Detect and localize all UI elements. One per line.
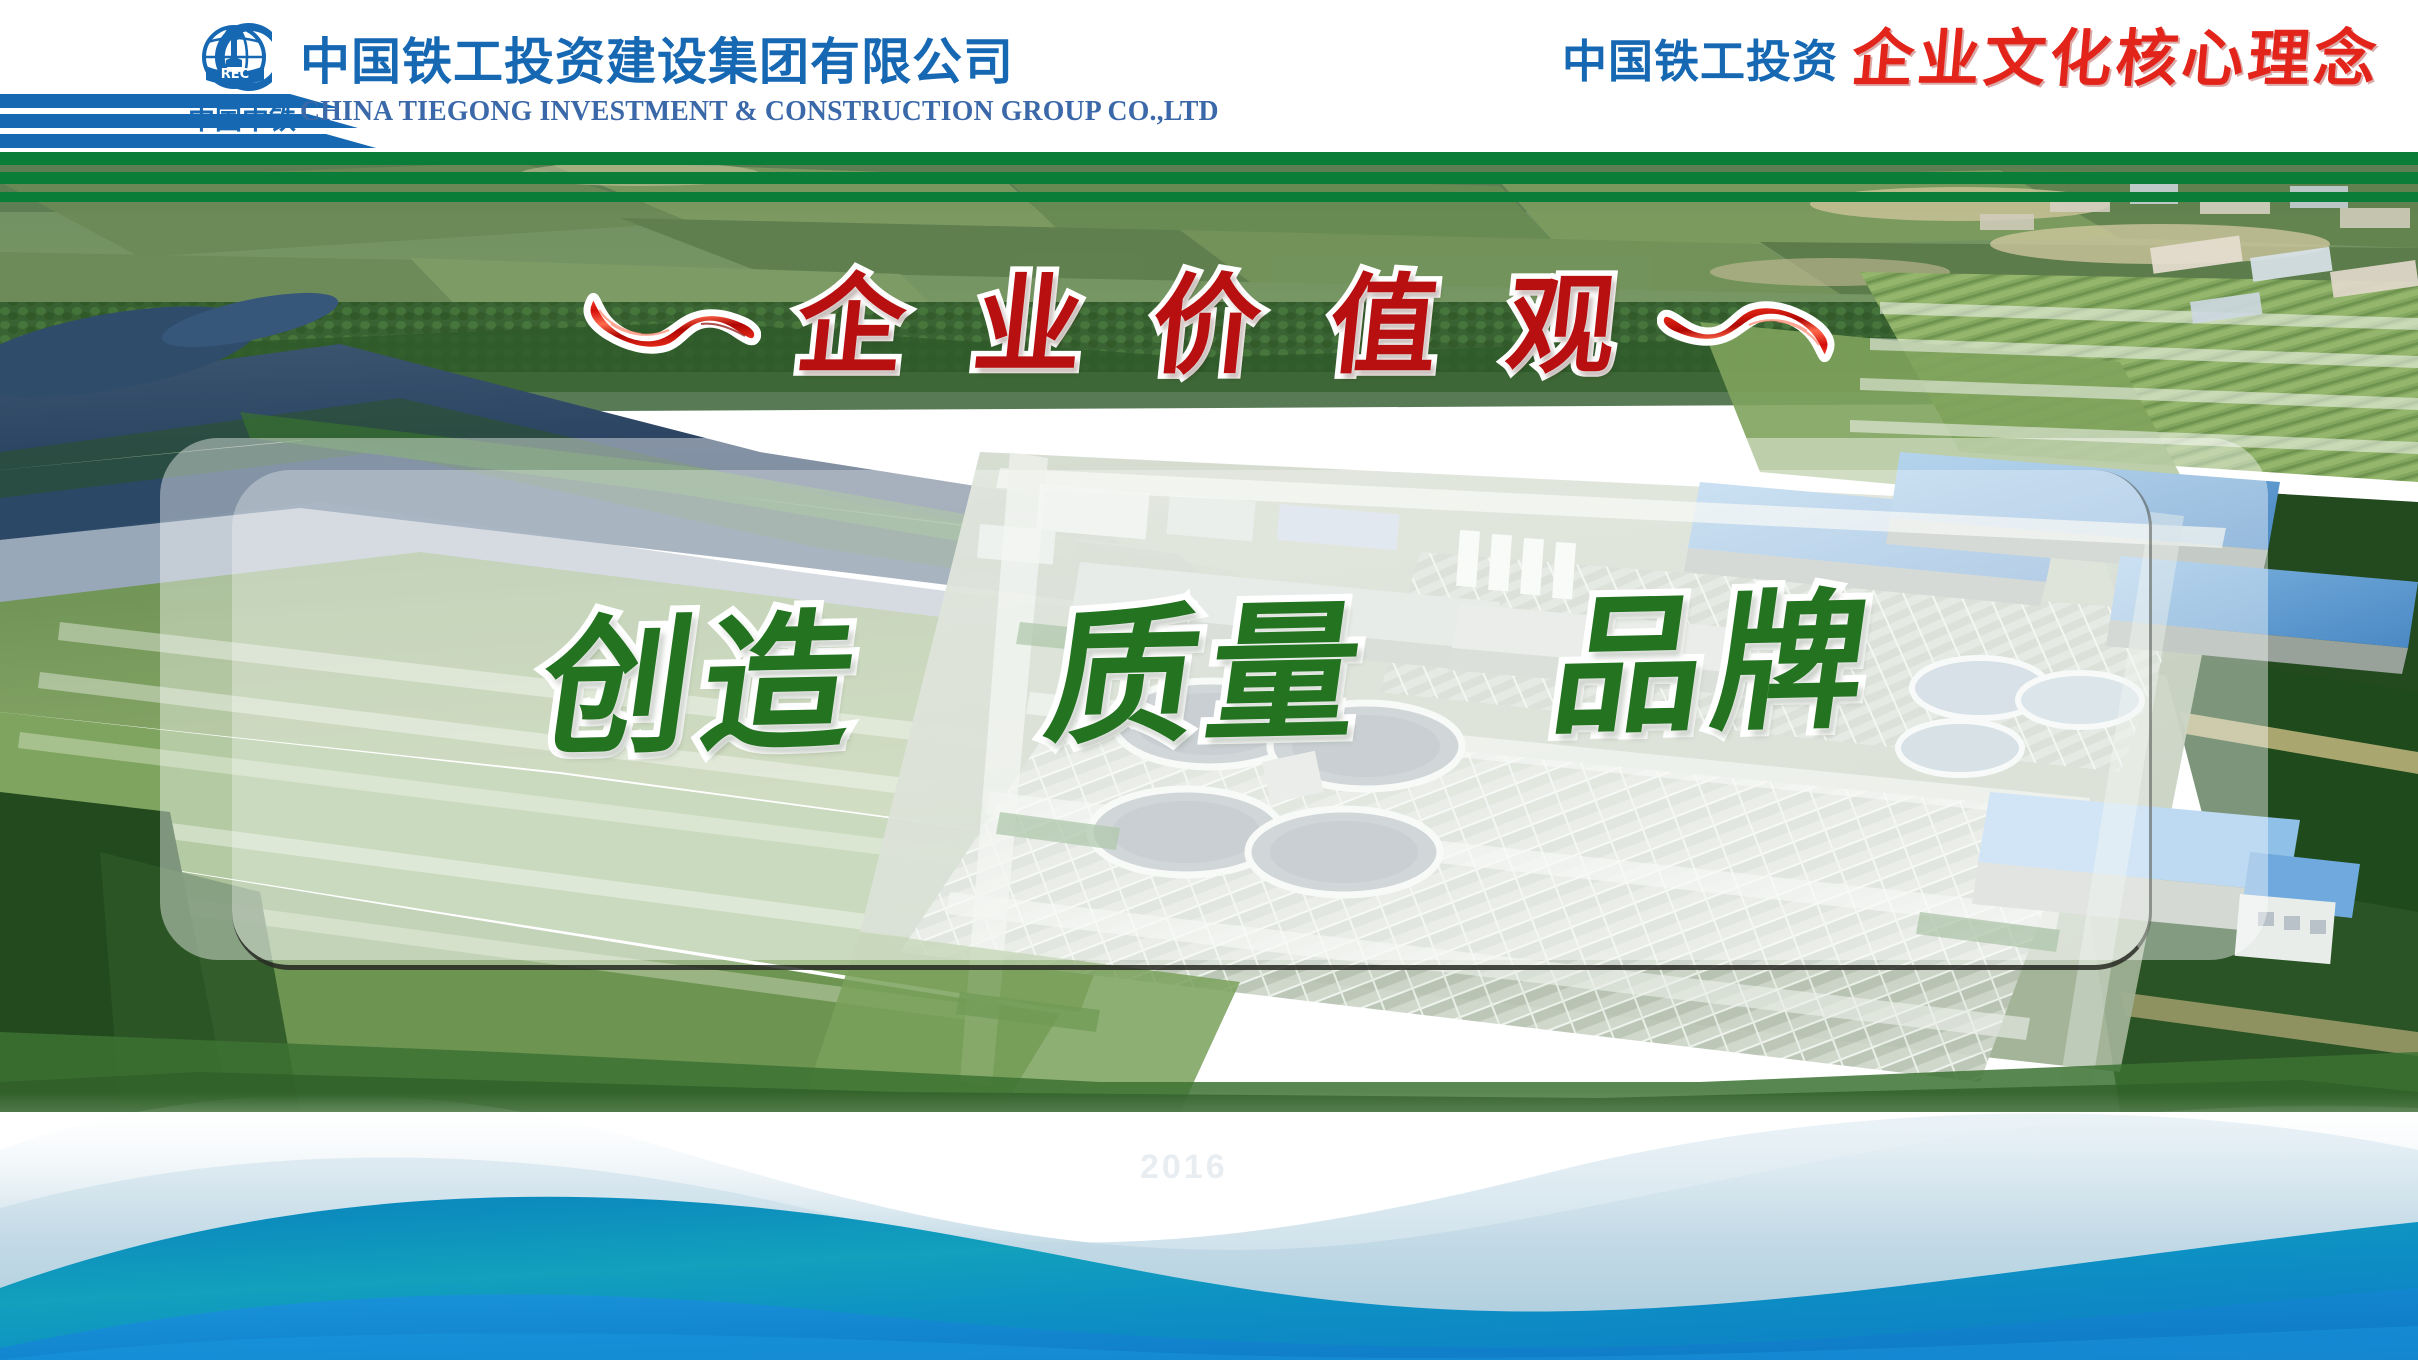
slogan-word-3: 品牌 (1542, 573, 1887, 756)
company-logo: REC 中国中铁 (186, 18, 298, 134)
bottom-wave-decoration (0, 1030, 2418, 1360)
company-name-en: CHINA TIEGONG INVESTMENT & CONSTRUCTION … (300, 96, 1219, 128)
slide-canvas: 企 业 价 值 观 创造 质量 品牌 2016 (0, 0, 2418, 1360)
logo-label: 中国中铁 (186, 98, 298, 137)
red-silk-ribbon-icon (1657, 280, 1837, 375)
crec-globe-rail-logo-icon: REC (194, 20, 290, 94)
green-stripe-band (0, 152, 2418, 202)
brand-prefix: 中国铁工投资 (1562, 39, 1838, 90)
page-header: REC 中国中铁 中国铁工投资建设集团有限公司 CHINA TIEGONG IN… (0, 0, 2418, 152)
red-silk-ribbon-icon (581, 280, 761, 375)
slogan-gap (919, 732, 979, 733)
section-title: 企业文化核心理念 (1849, 28, 2382, 90)
title-banner: 企 业 价 值 观 (0, 252, 2418, 402)
title-text: 企 业 价 值 观 (781, 270, 1637, 383)
watermark: 2016 (1140, 1148, 1228, 1187)
header-right-group: 中国铁工投资 企业文化核心理念 (1562, 28, 2380, 90)
slogan-gap (1425, 721, 1485, 722)
slogan-word-1: 创造 (530, 594, 875, 777)
slogan-word-2: 质量 (1036, 584, 1381, 767)
company-name-cn: 中国铁工投资建设集团有限公司 (300, 22, 1014, 94)
svg-text:REC: REC (221, 67, 249, 82)
